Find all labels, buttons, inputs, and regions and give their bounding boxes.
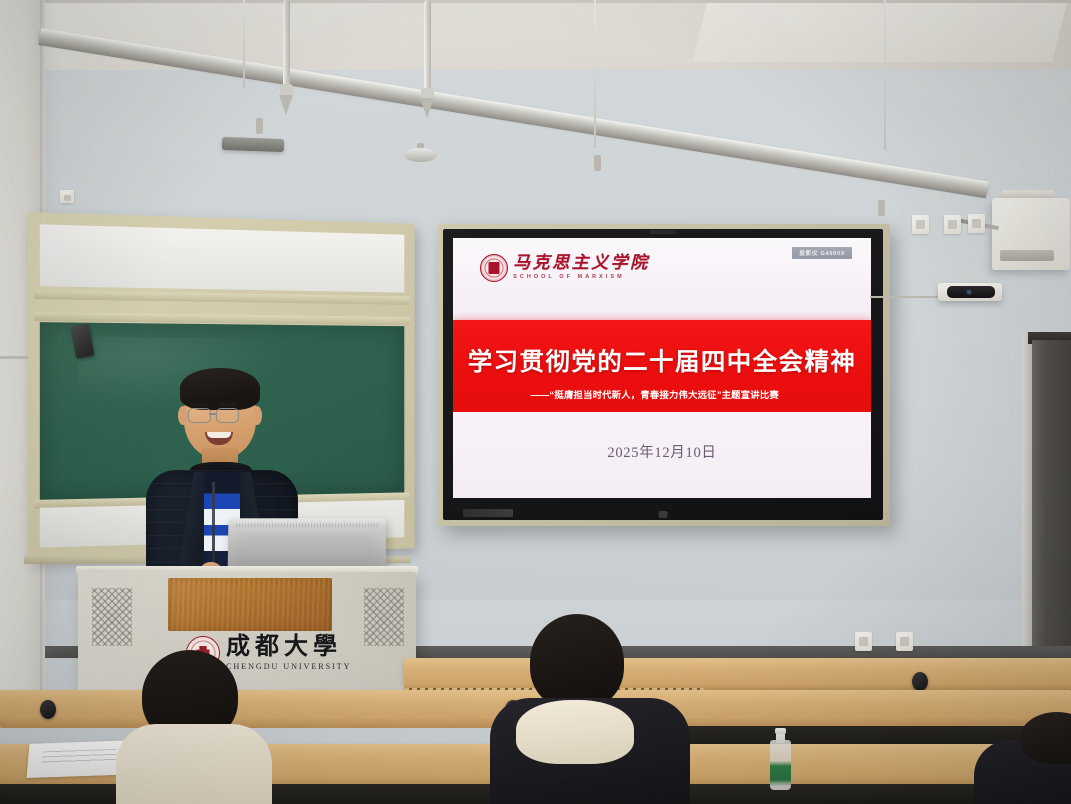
water-bottle[interactable]: [770, 728, 791, 790]
bottle-body: [770, 740, 791, 790]
display-ir-sensor-icon: [659, 511, 668, 518]
podium-vent: [364, 588, 404, 646]
bottle-cap: [775, 728, 786, 734]
classroom-scene: 马克思主义学院 SCHOOL OF MARXISM 投影仪 G4960X 学习贯…: [0, 0, 1071, 804]
rail-clip: [878, 200, 885, 216]
student-hood: [516, 700, 634, 764]
classroom-door[interactable]: [1032, 340, 1071, 646]
presenter-brow: [218, 403, 237, 406]
hanger-rod: [283, 0, 290, 92]
conference-camera: [938, 283, 1002, 301]
device-code-badge: 投影仪 G4960X: [792, 247, 852, 259]
student-front-left: [120, 650, 260, 804]
slide-date: 2025年12月10日: [453, 441, 871, 462]
glasses-icon: [216, 408, 239, 423]
presenter-ear: [178, 406, 188, 425]
student-head: [530, 614, 624, 710]
presenter-brow: [190, 403, 209, 406]
school-wordmark: 马克思主义学院 SCHOOL OF MARXISM: [513, 255, 650, 280]
presentation-slide: 马克思主义学院 SCHOOL OF MARXISM 投影仪 G4960X 学习贯…: [453, 238, 871, 498]
drop-wire: [884, 0, 886, 150]
wall-sensor: [60, 190, 74, 203]
power-outlet[interactable]: [944, 215, 961, 234]
hanging-projector-mount-icon: [222, 137, 284, 152]
school-name-en: SCHOOL OF MARXISM: [513, 275, 650, 280]
ceiling-panel: [692, 0, 1067, 62]
seat-pivot-knob: [912, 672, 928, 691]
school-seal-icon: [480, 254, 508, 282]
rail-clip: [256, 118, 263, 134]
glasses-bridge: [209, 413, 216, 415]
display-bezel: 马克思主义学院 SCHOOL OF MARXISM 投影仪 G4960X 学习贯…: [443, 229, 883, 520]
hanging-sensor-disc-icon: [404, 148, 437, 162]
podium-wood-panel: [168, 578, 332, 631]
light-switch[interactable]: [912, 215, 929, 234]
power-outlet[interactable]: [896, 632, 913, 651]
seat-pivot-knob: [40, 700, 56, 719]
drop-wire: [243, 0, 245, 88]
interactive-display[interactable]: 马克思主义学院 SCHOOL OF MARXISM 投影仪 G4960X 学习贯…: [438, 224, 890, 526]
display-top-mark: [650, 230, 676, 234]
board-rail: [34, 290, 410, 305]
camera-cable: [870, 296, 942, 298]
school-name-cn: 马克思主义学院: [513, 255, 650, 272]
slide-subtitle: ——“挺膺担当时代新人，青春接力伟大远征”主题宣讲比赛: [453, 387, 871, 401]
student-jacket: [116, 724, 272, 804]
camera-lens-icon: [947, 286, 995, 298]
ceiling-seam: [0, 0, 1071, 3]
display-screen[interactable]: 马克思主义学院 SCHOOL OF MARXISM 投影仪 G4960X 学习贯…: [453, 238, 871, 498]
presenter-ear: [252, 406, 262, 425]
hanger-rod: [424, 0, 431, 92]
podium-vent: [92, 588, 132, 646]
school-logo: 马克思主义学院 SCHOOL OF MARXISM: [480, 254, 650, 282]
slide-title: 学习贯彻党的二十届四中全会精神: [453, 343, 871, 378]
power-outlet[interactable]: [968, 214, 985, 233]
drop-wire: [594, 0, 596, 148]
student-front-right: [974, 734, 1071, 804]
wall-projector: [992, 198, 1070, 270]
power-outlet[interactable]: [855, 632, 872, 651]
hanger-bracket: [279, 95, 293, 115]
glasses-icon: [188, 408, 211, 423]
hanger-bracket: [420, 98, 434, 118]
display-port-label: [463, 509, 513, 517]
rail-clip: [594, 155, 601, 171]
student-front-center: [498, 614, 683, 804]
board-upper-panel: [40, 224, 404, 292]
